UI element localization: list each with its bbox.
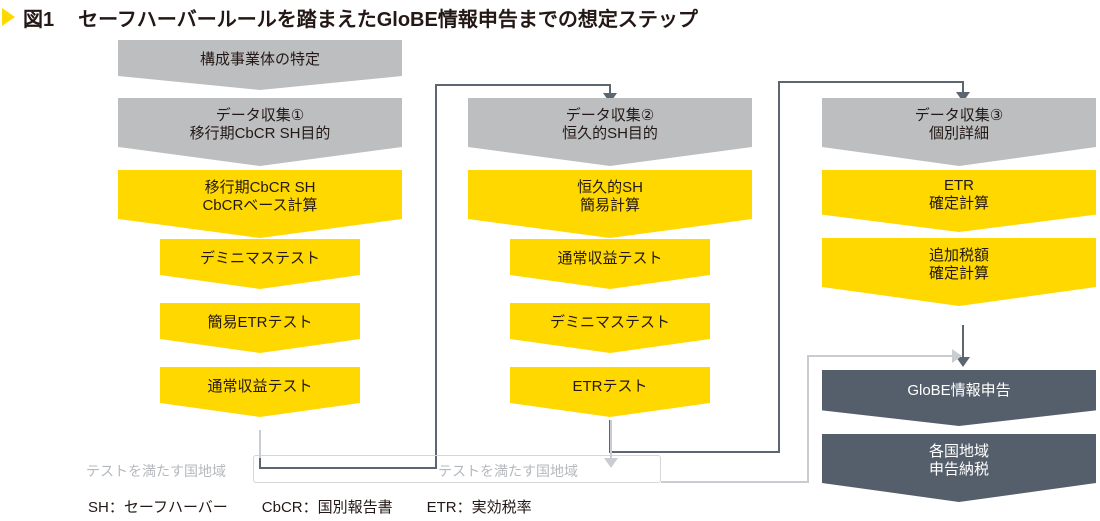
step-line: 恒久的SH <box>577 179 643 197</box>
connector-c2-to-c3-horiz <box>609 451 780 453</box>
step-line: CbCRベース計算 <box>202 197 317 215</box>
step-line: ETR <box>944 177 974 195</box>
figure-number: 図1 <box>23 3 54 32</box>
legend-item-etr: ETR：実効税率 <box>427 496 532 517</box>
bypass-c2-drop-vert <box>610 420 612 462</box>
step-line: 恒久的SH目的 <box>562 125 658 143</box>
step-etr-final-calc[interactable]: ETR 確定計算 <box>822 170 1096 232</box>
step-etr-test[interactable]: ETRテスト <box>510 367 710 417</box>
connector-c3-to-globe-vert <box>962 325 964 359</box>
connector-c1-to-c2-vert-up <box>435 84 437 469</box>
step-transitional-cbcr-sh[interactable]: 移行期CbCR SH CbCRベース計算 <box>118 170 402 238</box>
step-data-collection-3[interactable]: データ収集③ 個別詳細 <box>822 98 1096 166</box>
figure-title-row: 図1 セーフハーバールールを踏まえたGloBE情報申告までの想定ステップ <box>0 2 698 32</box>
connector-label-1: テストを満たす国地域 <box>86 461 226 481</box>
step-line: 各国地域 <box>929 443 989 461</box>
step-line: ETRテスト <box>572 378 647 396</box>
step-line: 簡易ETRテスト <box>207 314 312 332</box>
triangle-marker-icon <box>2 8 15 26</box>
bypass-to-globe-vert <box>807 355 809 483</box>
legend-item-cbcr: CbCR：国別報告書 <box>262 496 393 517</box>
connector-c2-to-c3-vert-up <box>778 81 780 453</box>
bypass-to-globe-bottom-horiz <box>661 481 809 483</box>
step-permanent-sh-simple[interactable]: 恒久的SH 簡易計算 <box>468 170 752 238</box>
step-globe-information-return[interactable]: GloBE情報申告 <box>822 370 1096 426</box>
step-entity-identification[interactable]: 構成事業体の特定 <box>118 40 402 90</box>
step-de-minimis-test-1[interactable]: デミニマステスト <box>160 239 360 289</box>
step-line: 確定計算 <box>929 265 989 283</box>
step-line: 簡易計算 <box>580 197 640 215</box>
step-de-minimis-test-2[interactable]: デミニマステスト <box>510 303 710 353</box>
bypass-to-globe-horiz <box>807 355 955 357</box>
legend: SH：セーフハーバー CbCR：国別報告書 ETR：実効税率 <box>88 496 532 517</box>
step-country-filing-payment[interactable]: 各国地域 申告納税 <box>822 434 1096 502</box>
step-topup-tax-final-calc[interactable]: 追加税額 確定計算 <box>822 238 1096 306</box>
step-line: 申告納税 <box>929 461 989 479</box>
step-line: デミニマステスト <box>200 250 320 268</box>
step-line: デミニマステスト <box>550 314 670 332</box>
step-routine-profits-test-2[interactable]: 通常収益テスト <box>510 239 710 289</box>
step-line: データ収集① <box>216 107 304 125</box>
bypass-globe-arrowhead-icon <box>952 349 962 363</box>
step-line: 移行期CbCR SH目的 <box>190 125 331 143</box>
connector-c3-top-horiz <box>778 81 964 83</box>
step-routine-profits-test-1[interactable]: 通常収益テスト <box>160 367 360 417</box>
step-line: 追加税額 <box>929 247 989 265</box>
connector-label-2: テストを満たす国地域 <box>438 461 578 481</box>
step-line: データ収集③ <box>915 107 1003 125</box>
step-line: 移行期CbCR SH <box>205 179 316 197</box>
figure-canvas: 図1 セーフハーバールールを踏まえたGloBE情報申告までの想定ステップ テスト… <box>0 0 1100 521</box>
bypass-c1-drop-vert <box>259 430 261 458</box>
step-line: 通常収益テスト <box>557 250 662 268</box>
step-simplified-etr-test[interactable]: 簡易ETRテスト <box>160 303 360 353</box>
step-line: 確定計算 <box>929 195 989 213</box>
step-line: 構成事業体の特定 <box>200 51 320 69</box>
step-line: 通常収益テスト <box>207 378 312 396</box>
page-title: セーフハーバールールを踏まえたGloBE情報申告までの想定ステップ <box>78 3 698 32</box>
legend-item-sh: SH：セーフハーバー <box>88 496 228 517</box>
bypass-c2-arrowhead-icon <box>604 458 618 468</box>
step-data-collection-2[interactable]: データ収集② 恒久的SH目的 <box>468 98 752 166</box>
step-data-collection-1[interactable]: データ収集① 移行期CbCR SH目的 <box>118 98 402 166</box>
connector-c2-top-horiz <box>435 84 611 86</box>
step-line: データ収集② <box>566 107 654 125</box>
step-line: GloBE情報申告 <box>907 382 1010 400</box>
step-line: 個別詳細 <box>929 125 989 143</box>
